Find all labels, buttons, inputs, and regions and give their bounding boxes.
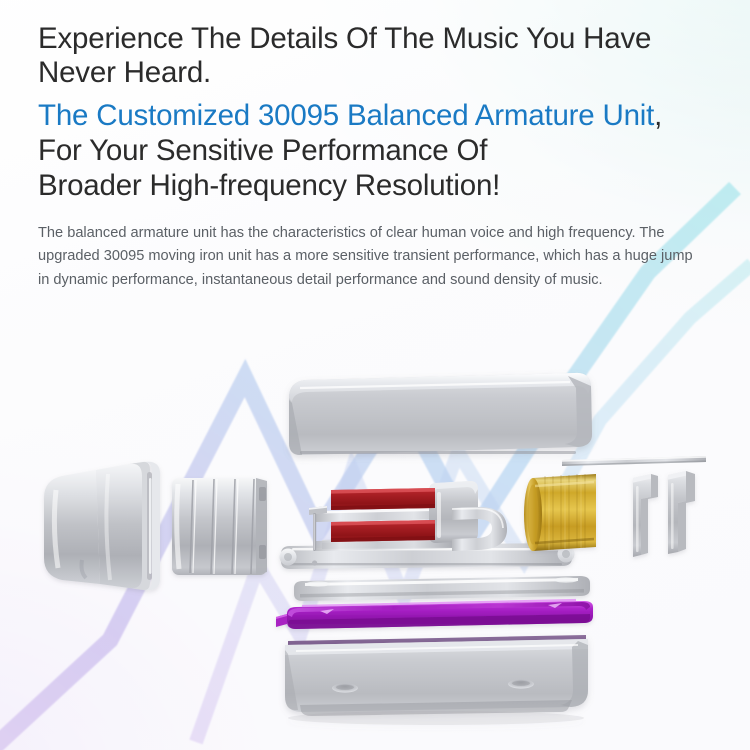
part-copper-coil <box>524 474 596 551</box>
part-base-plate <box>280 538 575 569</box>
headline-line-1: Experience The Details Of The Music You … <box>38 22 651 55</box>
headline-line-2: Never Heard. <box>38 56 211 89</box>
part-connector-pin-1 <box>633 474 658 557</box>
part-connector-pin-2 <box>668 471 695 554</box>
body-paragraph: The balanced armature unit has the chara… <box>38 222 704 293</box>
text-block: Experience The Details Of The Music You … <box>38 22 710 293</box>
promo-banner: Experience The Details Of The Music You … <box>0 0 750 750</box>
part-ribbed-sleeve <box>172 478 267 575</box>
part-armature-yoke <box>309 481 507 566</box>
part-bottom-housing <box>285 635 588 725</box>
subtitle-rest-line-2: Broader High-frequency Resolution! <box>38 169 500 202</box>
subtitle-accent-text: The Customized 30095 Balanced Armature U… <box>38 99 654 132</box>
part-sound-nozzle <box>44 462 160 591</box>
part-mid-plate <box>294 576 590 601</box>
part-diaphragm <box>276 600 593 629</box>
part-top-housing <box>289 373 592 455</box>
part-magnet-upper <box>331 488 435 510</box>
page-subtitle: The Customized 30095 Balanced Armature U… <box>38 99 710 203</box>
part-thin-rod <box>562 456 706 466</box>
page-title: Experience The Details Of The Music You … <box>38 22 710 90</box>
part-magnet-lower <box>331 520 435 542</box>
